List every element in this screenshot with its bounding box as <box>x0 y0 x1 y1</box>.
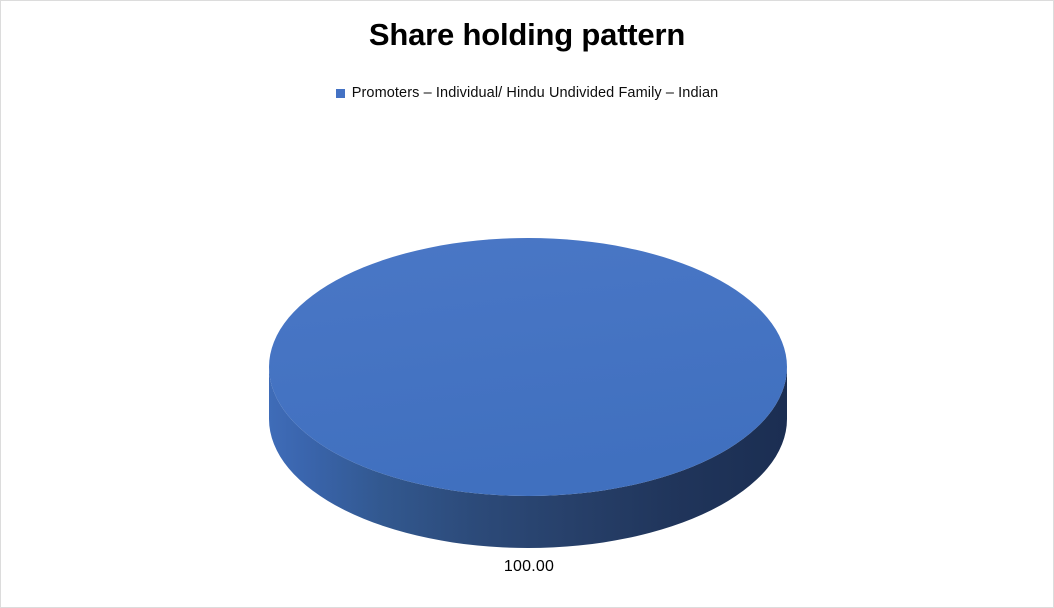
chart-title: Share holding pattern <box>1 17 1053 53</box>
pie-data-label: 100.00 <box>1 558 1053 576</box>
pie-slice-side-wall <box>269 367 787 548</box>
chart-container: Share holding pattern Promoters – Indivi… <box>0 0 1054 608</box>
legend-item-promoters[interactable]: Promoters – Individual/ Hindu Undivided … <box>336 85 719 101</box>
legend-item-label: Promoters – Individual/ Hindu Undivided … <box>352 85 719 101</box>
pie-data-label-value: 100.00 <box>504 558 554 575</box>
legend-swatch-icon <box>336 89 345 98</box>
chart-legend: Promoters – Individual/ Hindu Undivided … <box>1 85 1053 101</box>
pie-slice-top-face[interactable] <box>269 238 787 496</box>
